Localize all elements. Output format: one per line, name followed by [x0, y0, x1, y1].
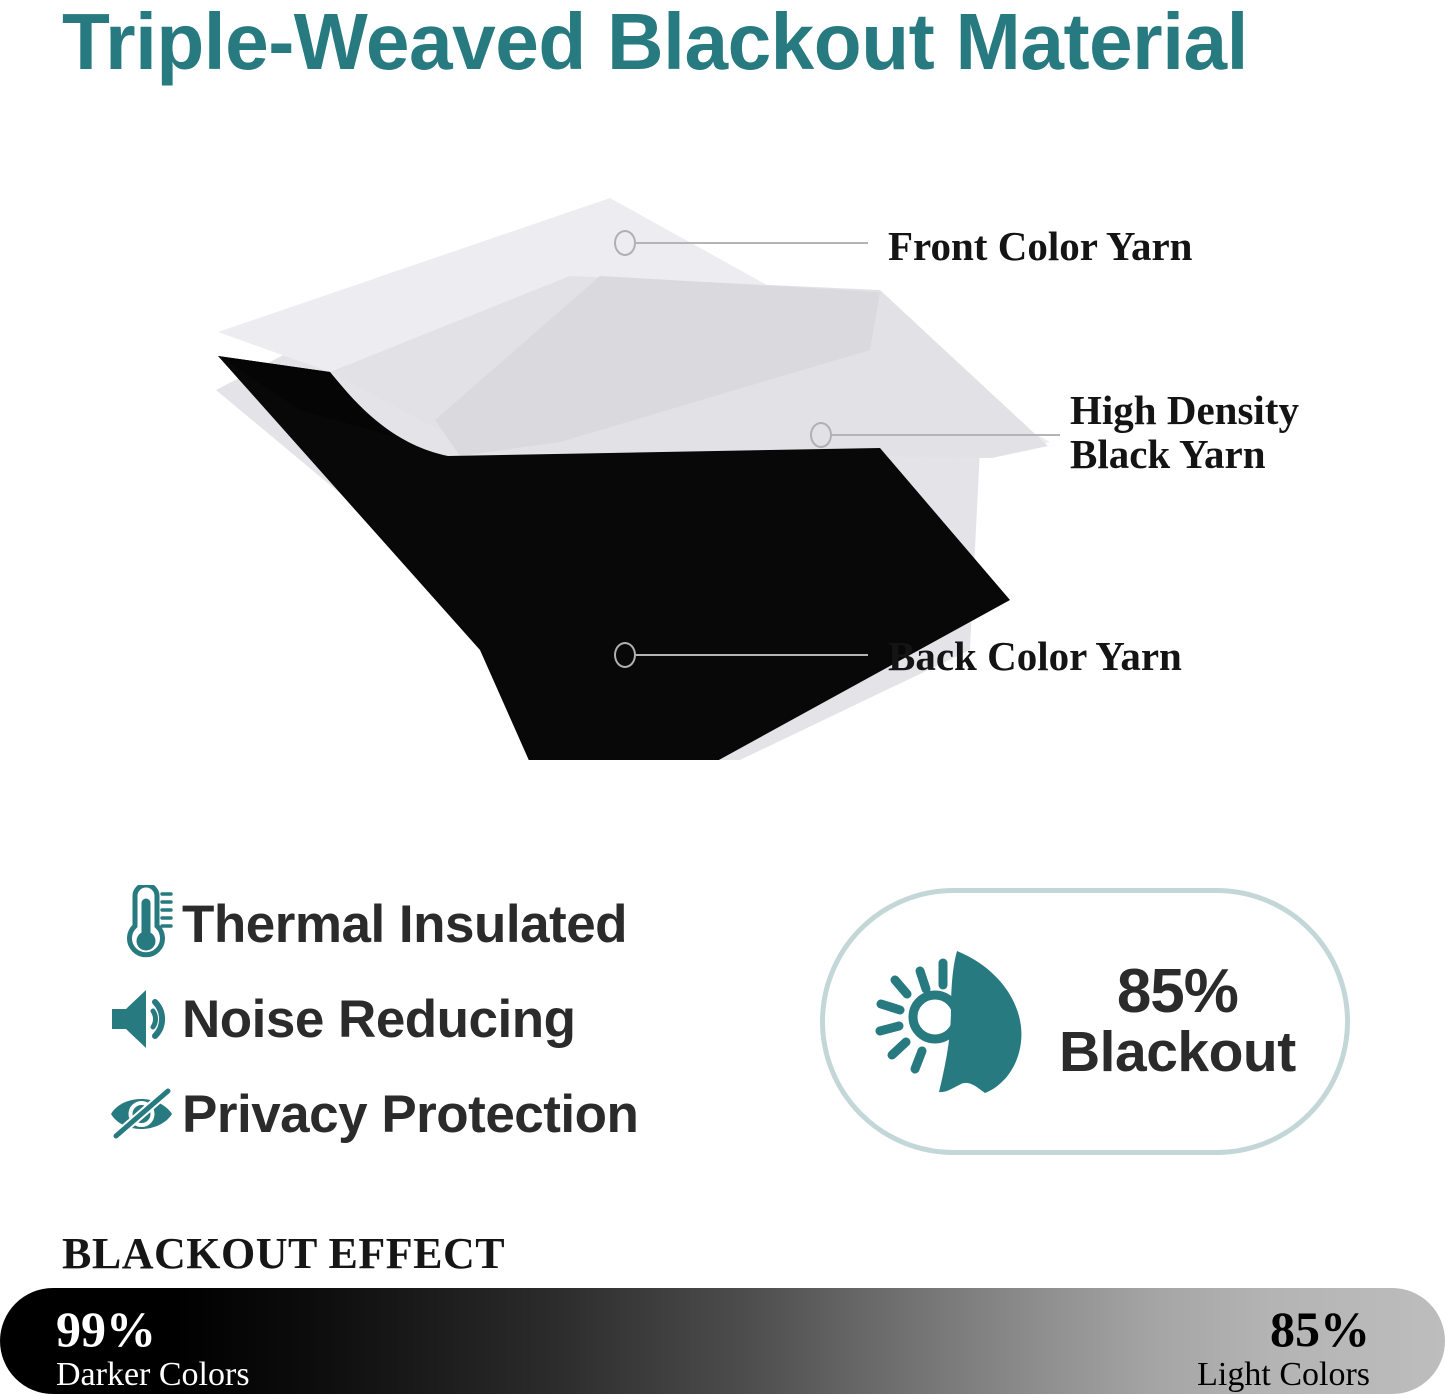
feature-item-thermal-insulated: Thermal Insulated — [104, 880, 744, 968]
blackout-badge-text: 85% Blackout — [1059, 961, 1296, 1083]
darker-colors-percent: 99% — [56, 1304, 156, 1354]
feature-label-thermal-insulated: Thermal Insulated — [182, 894, 627, 955]
callout-marker-front-color-yarn — [614, 230, 636, 256]
darker-colors-label: Darker Colors — [56, 1354, 250, 1394]
callout-marker-back-color-yarn — [614, 642, 636, 668]
callout-marker-high-density-black-yarn — [810, 422, 832, 448]
blackout-badge: 85% Blackout — [820, 888, 1350, 1155]
eye-slash-icon — [104, 1086, 182, 1142]
blackout-word: Blackout — [1059, 1023, 1296, 1083]
infographic-page: Triple-Weaved Blackout Material Front Co… — [0, 0, 1445, 1394]
callout-leader-front-color-yarn — [636, 242, 868, 244]
callout-leader-high-density-black-yarn — [832, 434, 1060, 436]
thermometer-icon — [104, 885, 182, 963]
callout-label-line-1: High Density — [1070, 388, 1370, 432]
callout-label-line-2: Black Yarn — [1070, 432, 1370, 476]
callout-label-front-color-yarn: Front Color Yarn — [888, 222, 1192, 270]
blackout-effect-heading: BLACKOUT EFFECT — [62, 1228, 505, 1279]
page-title: Triple-Weaved Blackout Material — [62, 0, 1375, 88]
light-colors-label: Light Colors — [1197, 1354, 1370, 1394]
feature-label-privacy-protection: Privacy Protection — [182, 1084, 638, 1145]
callout-leader-back-color-yarn — [636, 654, 868, 656]
feature-item-privacy-protection: Privacy Protection — [104, 1070, 744, 1158]
sun-curtain-icon — [853, 947, 1053, 1097]
blackout-percent: 85% — [1117, 961, 1238, 1023]
callout-label-high-density-black-yarn: High Density Black Yarn — [1070, 388, 1370, 477]
speaker-icon — [104, 986, 182, 1052]
blackout-bar-left-stat: 99% Darker Colors — [56, 1304, 250, 1394]
blackout-bar-right-stat: 85% Light Colors — [1197, 1304, 1370, 1394]
feature-label-noise-reducing: Noise Reducing — [182, 989, 576, 1050]
callout-label-back-color-yarn: Back Color Yarn — [888, 632, 1182, 680]
feature-item-noise-reducing: Noise Reducing — [104, 975, 744, 1063]
feature-list: Thermal Insulated Noise Reducing — [104, 880, 744, 1165]
light-colors-percent: 85% — [1270, 1304, 1370, 1354]
